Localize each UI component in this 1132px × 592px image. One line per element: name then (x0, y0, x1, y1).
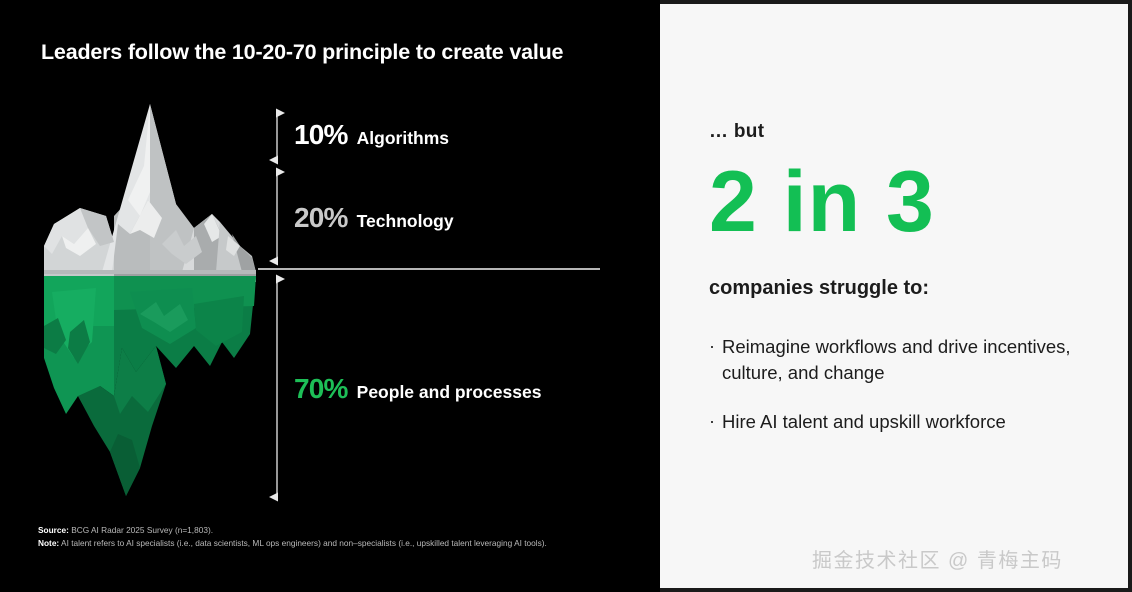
page-title: Leaders follow the 10-20-70 principle to… (41, 40, 563, 65)
headline-stat: 2 in 3 (709, 159, 935, 245)
list-item: · Hire AI talent and upskill workforce (709, 409, 1104, 435)
breakdown-percent-algorithms: 10% (294, 119, 348, 151)
right-panel: … but 2 in 3 companies struggle to: · Re… (660, 4, 1128, 588)
breakdown-row-algorithms: 10% Algorithms (294, 119, 449, 151)
breakdown-percent-technology: 20% (294, 202, 348, 234)
presentation-slide: Leaders follow the 10-20-70 principle to… (0, 0, 1132, 592)
bullet-text: Reimagine workflows and drive incentives… (722, 334, 1104, 387)
breakdown-label-technology: Technology (357, 211, 454, 232)
left-panel: Leaders follow the 10-20-70 principle to… (0, 0, 660, 592)
breakdown-label-algorithms: Algorithms (357, 128, 449, 149)
bullet-marker-icon: · (709, 409, 715, 435)
bullet-text: Hire AI talent and upskill workforce (722, 409, 1006, 435)
breakdown-row-technology: 20% Technology (294, 202, 454, 234)
bullet-list: · Reimagine workflows and drive incentiv… (709, 334, 1104, 457)
breakdown-row-people-and-processes: 70% People and processes (294, 373, 541, 405)
footnote-source-text: BCG AI Radar 2025 Survey (n=1,803). (69, 525, 213, 535)
footnote-note: Note: AI talent refers to AI specialists… (38, 537, 547, 550)
breakdown-percent-people-and-processes: 70% (294, 373, 348, 405)
footnotes: Source: BCG AI Radar 2025 Survey (n=1,80… (38, 524, 547, 549)
bullet-marker-icon: · (709, 334, 715, 387)
watermark: 掘金技术社区 @ 青梅主码 (812, 544, 1063, 573)
intro-text: … but (709, 121, 764, 143)
footnote-note-text: AI talent refers to AI specialists (i.e.… (59, 538, 547, 548)
footnote-source-label: Source: (38, 525, 69, 535)
breakdown-label-people-and-processes: People and processes (357, 382, 542, 403)
footnote-note-label: Note: (38, 538, 59, 548)
iceberg-icon (44, 96, 266, 500)
list-item: · Reimagine workflows and drive incentiv… (709, 334, 1104, 387)
subheading: companies struggle to: (709, 277, 929, 300)
footnote-source: Source: BCG AI Radar 2025 Survey (n=1,80… (38, 524, 547, 537)
